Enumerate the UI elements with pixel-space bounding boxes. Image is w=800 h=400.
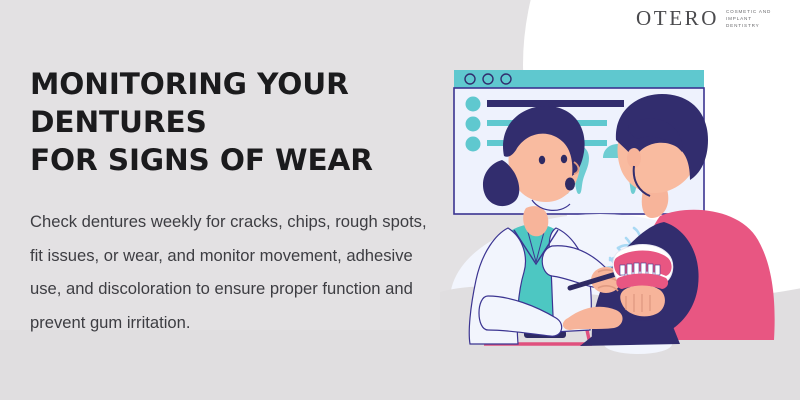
list-dot-3 — [466, 137, 481, 152]
list-bar-1 — [487, 100, 624, 107]
headline-line-2: FOR SIGNS OF WEAR — [30, 143, 373, 177]
list-dot-2 — [466, 117, 481, 132]
dentist-mouth — [565, 178, 575, 191]
body-paragraph: Check dentures weekly for cracks, chips,… — [30, 205, 430, 339]
dentist-eye-right — [561, 155, 567, 163]
denture-model — [613, 245, 673, 290]
dental-illustration — [440, 0, 800, 400]
headline-line-1: MONITORING YOUR DENTURES — [30, 67, 349, 139]
patient-ear — [627, 148, 641, 168]
poster-canvas: OTERO COSMETIC AND IMPLANT DENTISTRY MON… — [0, 0, 800, 400]
text-column: MONITORING YOUR DENTURES FOR SIGNS OF WE… — [30, 66, 440, 339]
screen-title-bar — [454, 70, 704, 88]
list-dot-1 — [466, 97, 481, 112]
dentist-eye-left — [539, 156, 545, 164]
page-title: MONITORING YOUR DENTURES FOR SIGNS OF WE… — [30, 66, 440, 179]
